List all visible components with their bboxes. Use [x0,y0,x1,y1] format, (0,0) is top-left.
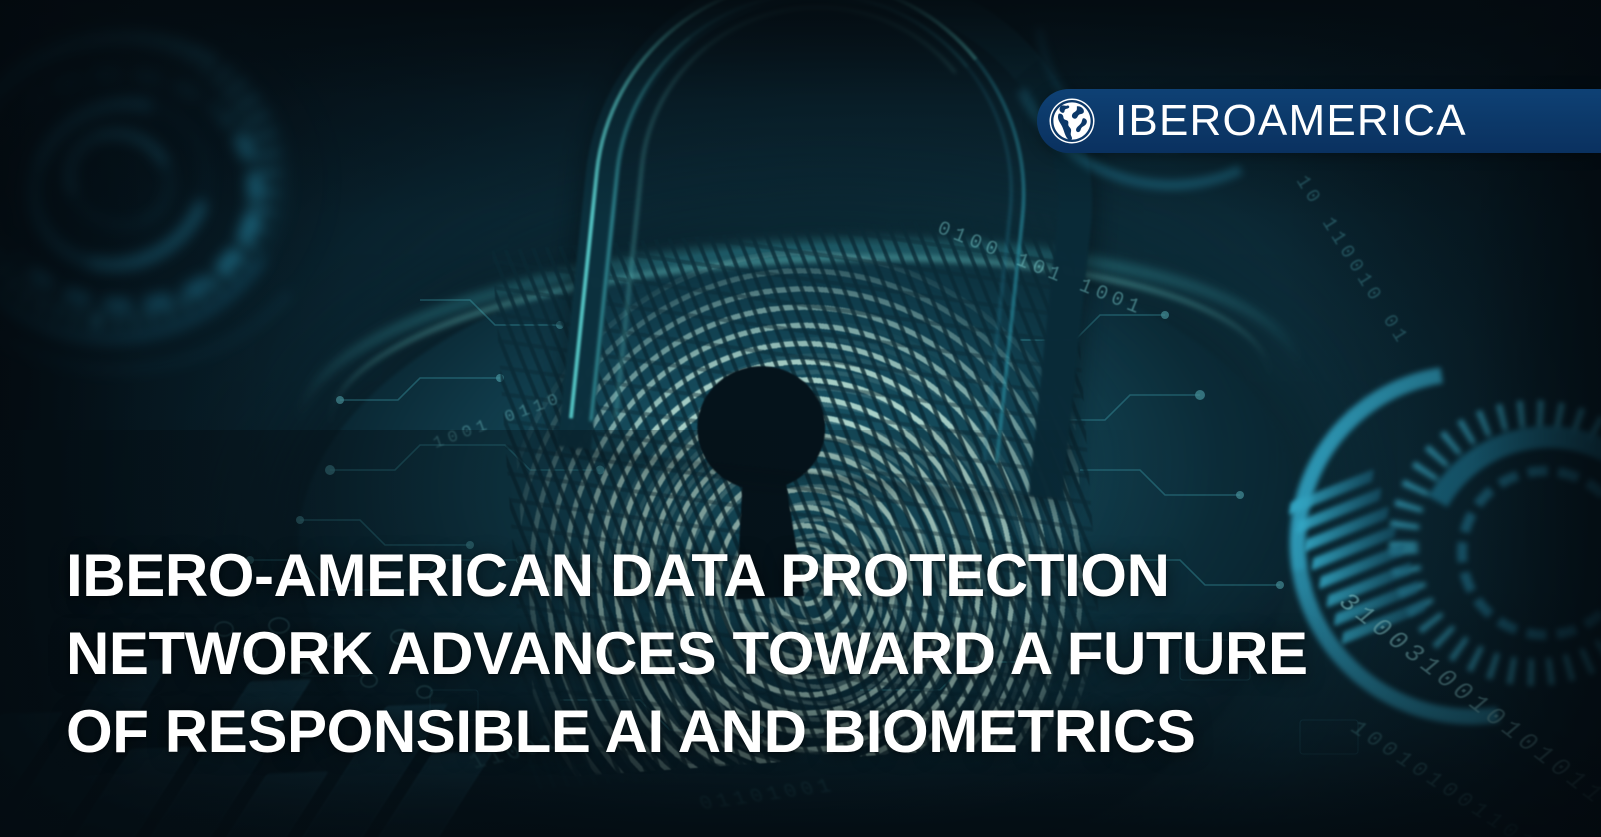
page-title-line-3: OF RESPONSIBLE AI AND BIOMETRICS [66,693,1336,771]
globe-icon [1048,97,1096,145]
badge-label: IBEROAMERICA [1115,99,1467,143]
iberoamerica-badge: IBEROAMERICA [1037,89,1601,153]
page-title: IBERO-AMERICAN DATA PROTECTION NETWORK A… [66,537,1336,771]
page-title-line-2: NETWORK ADVANCES TOWARD A FUTURE [66,615,1336,693]
page-title-line-1: IBERO-AMERICAN DATA PROTECTION [66,537,1336,615]
hero-banner: 3100310010101011 1001010011010 10 110010… [0,0,1601,837]
